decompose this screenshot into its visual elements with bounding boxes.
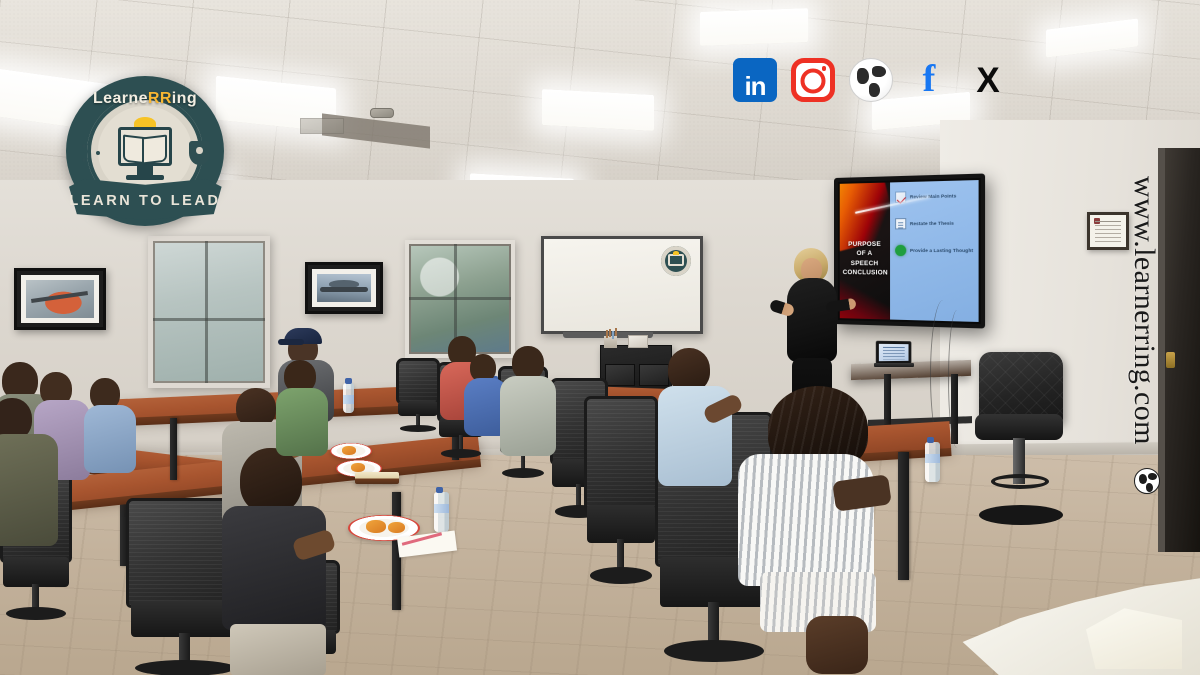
chair-footring [991, 474, 1049, 489]
network-node-icon [82, 144, 103, 164]
water-bottle [343, 383, 354, 413]
water-bottle [434, 492, 449, 532]
food-item [366, 520, 386, 533]
logo-banner: LEARN TO LEAD [60, 175, 231, 220]
chair-post [179, 633, 190, 661]
chair-post [617, 539, 624, 569]
attendee-torso [738, 454, 874, 586]
attendee-torso [500, 376, 556, 456]
website-url[interactable]: www.learnerring.com [1127, 176, 1161, 445]
x-label: X [976, 63, 997, 98]
chair-base [6, 607, 66, 621]
bottle-label [343, 395, 354, 404]
ceiling-light-panel [700, 8, 808, 46]
facebook-label: f [923, 60, 936, 100]
logo-tagline: LEARN TO LEAD [60, 175, 231, 220]
whiteboard-logo-icon [661, 246, 691, 276]
open-book-icon [123, 136, 167, 159]
ceiling-light-panel [542, 89, 654, 131]
attendee [222, 448, 334, 675]
food-item [388, 522, 405, 533]
chair-base [135, 660, 234, 675]
attendee-arm [832, 474, 892, 512]
laptop[interactable] [874, 341, 914, 367]
bottle-label [434, 504, 449, 513]
chair-seat [975, 414, 1063, 440]
social-icon-row: in f X [733, 58, 1009, 102]
power-cable [948, 310, 966, 448]
slide-bullet-text: Restate the Thesis [910, 221, 954, 227]
chair-base [502, 468, 544, 478]
instagram-icon[interactable] [791, 58, 835, 102]
document-icon [895, 218, 906, 229]
attendee [738, 390, 898, 675]
window-left [148, 236, 270, 388]
attendee [276, 360, 330, 456]
credenza-door[interactable] [605, 364, 635, 386]
attendee [658, 348, 736, 488]
framed-certificate [1087, 212, 1129, 250]
chair-base [590, 567, 652, 584]
bottle-label [925, 454, 940, 463]
presenter-torso [787, 278, 837, 362]
facebook-icon[interactable]: f [907, 58, 951, 102]
globe-icon[interactable] [849, 58, 893, 102]
attendee-torso [222, 506, 326, 630]
chair-base [441, 449, 481, 458]
office-chair[interactable] [584, 396, 658, 584]
tissue-box [628, 335, 648, 348]
logo-word-part3: ing [172, 90, 197, 107]
window-mullion [205, 241, 208, 383]
attendee [500, 346, 558, 456]
helicopter-photo [26, 280, 94, 318]
logo-wordmark: LearneRRing [66, 90, 224, 108]
chair-backrest [584, 396, 658, 513]
pencil-cup [604, 336, 617, 348]
attendee-head [240, 448, 302, 514]
chair-seat [3, 557, 69, 587]
table-leg [170, 418, 177, 480]
green-dot-icon [895, 245, 906, 256]
chair-base [400, 425, 437, 432]
cap-brim [278, 339, 304, 345]
attendee-shorts [230, 624, 326, 675]
logo-word-part1: Learne [93, 90, 148, 107]
chair-backrest [396, 358, 440, 404]
whiteboard [541, 236, 703, 334]
attendee-torso [84, 405, 136, 473]
wall-art-osprey [305, 262, 383, 314]
chair-post [459, 435, 463, 450]
linkedin-label: in [744, 73, 765, 102]
book [355, 472, 399, 484]
laptop-screen[interactable] [879, 344, 909, 361]
office-chair[interactable] [396, 358, 440, 432]
laptop-lid [876, 341, 912, 365]
attendee-torso [276, 388, 328, 456]
chair-base [979, 505, 1063, 525]
smoke-detector-icon [370, 108, 394, 118]
ceiling-vent [300, 118, 344, 134]
logo-word-accent: RR [148, 90, 172, 107]
food-item [351, 463, 365, 472]
wall-mounted-display[interactable]: PURPOSE OF A SPEECH CONCLUSION Review Ma… [834, 173, 985, 328]
chair-post [416, 414, 420, 426]
chair-post [576, 484, 581, 506]
certificate-seal-icon [1094, 218, 1100, 224]
laptop-keyboard[interactable] [874, 363, 914, 367]
slide-bullet-text: Provide a Lasting Thought [910, 248, 973, 253]
learnerring-logo: LearneRRing LEARN TO LEAD [66, 76, 224, 226]
attendee [0, 398, 62, 548]
chair-seat [587, 505, 655, 543]
wall-art-helicopter [14, 268, 106, 330]
event-photo-canvas: PURPOSE OF A SPEECH CONCLUSION Review Ma… [0, 0, 1200, 675]
chair-post [708, 602, 719, 642]
paper-plate [330, 443, 372, 459]
linkedin-icon[interactable]: in [733, 58, 777, 102]
leather-drafting-chair[interactable] [975, 352, 1067, 527]
osprey-photo [317, 274, 371, 302]
slide-bullet-item: Provide a Lasting Thought [895, 245, 974, 257]
table-leg [898, 452, 909, 580]
globe-icon [1134, 468, 1160, 494]
doorway[interactable] [1158, 148, 1200, 552]
water-bottle [925, 442, 940, 482]
chair-post [32, 584, 38, 608]
presenter [768, 248, 850, 408]
shield-icon [189, 141, 210, 165]
food-item [342, 446, 356, 455]
attendee-torso [0, 434, 58, 546]
attendee [84, 378, 138, 474]
attendee-leg [806, 616, 868, 674]
window-mullion [153, 318, 265, 321]
door-handle[interactable] [1166, 352, 1175, 368]
slide-bullet-item: Restate the Thesis [895, 217, 974, 229]
window-mullion [409, 297, 511, 300]
x-twitter-icon[interactable]: X [965, 58, 1009, 102]
attendee-head [512, 346, 544, 380]
